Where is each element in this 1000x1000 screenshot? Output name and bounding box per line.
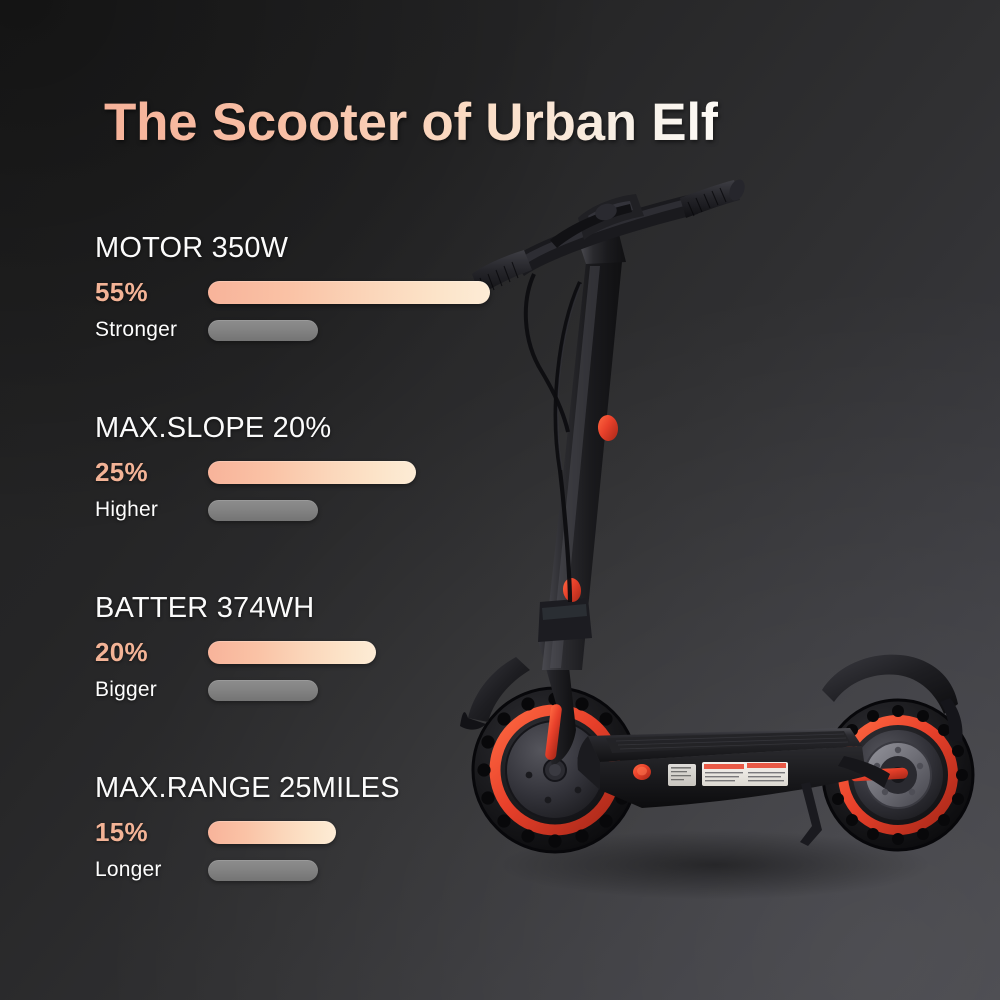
stat-word: Higher	[95, 498, 208, 522]
stat-row-primary: 55%	[95, 276, 490, 308]
stat-row-secondary: Higher	[95, 494, 416, 526]
stat-row-primary: 20%	[95, 636, 376, 668]
stat-row-primary: 15%	[95, 816, 400, 848]
stat-bar-baseline	[208, 320, 318, 341]
stat-heading: MOTOR 350W	[95, 232, 490, 265]
stat-percent: 15%	[95, 817, 208, 848]
stat-bar-accent	[208, 461, 416, 484]
stat-word: Stronger	[95, 318, 208, 342]
stat-heading: MAX.RANGE 25MILES	[95, 772, 400, 805]
product-image-electric-scooter	[430, 170, 1000, 890]
poster-canvas: The Scooter of Urban Elf MOTOR 350W 55% …	[0, 0, 1000, 1000]
stat-bar-baseline	[208, 500, 318, 521]
stat-word: Longer	[95, 858, 208, 882]
stat-bar-accent	[208, 281, 490, 304]
stat-word: Bigger	[95, 678, 208, 702]
warning-label	[668, 762, 788, 786]
stat-block-battery: BATTER 374WH 20% Bigger	[95, 592, 376, 706]
stat-row-secondary: Stronger	[95, 314, 490, 346]
stat-block-motor: MOTOR 350W 55% Stronger	[95, 232, 490, 346]
stat-percent: 25%	[95, 457, 208, 488]
stat-row-secondary: Longer	[95, 854, 400, 886]
stat-bar-accent	[208, 821, 336, 844]
stat-heading: MAX.SLOPE 20%	[95, 412, 416, 445]
stat-percent: 55%	[95, 277, 208, 308]
stat-block-max-range: MAX.RANGE 25MILES 15% Longer	[95, 772, 400, 886]
deck	[577, 728, 866, 808]
stat-row-secondary: Bigger	[95, 674, 376, 706]
stat-heading: BATTER 374WH	[95, 592, 376, 625]
page-title: The Scooter of Urban Elf	[104, 92, 718, 153]
stat-bar-baseline	[208, 680, 318, 701]
stat-bar-accent	[208, 641, 376, 664]
kickstand	[800, 782, 822, 846]
stat-row-primary: 25%	[95, 456, 416, 488]
stat-block-max-slope: MAX.SLOPE 20% 25% Higher	[95, 412, 416, 526]
stat-bar-baseline	[208, 860, 318, 881]
stat-percent: 20%	[95, 637, 208, 668]
